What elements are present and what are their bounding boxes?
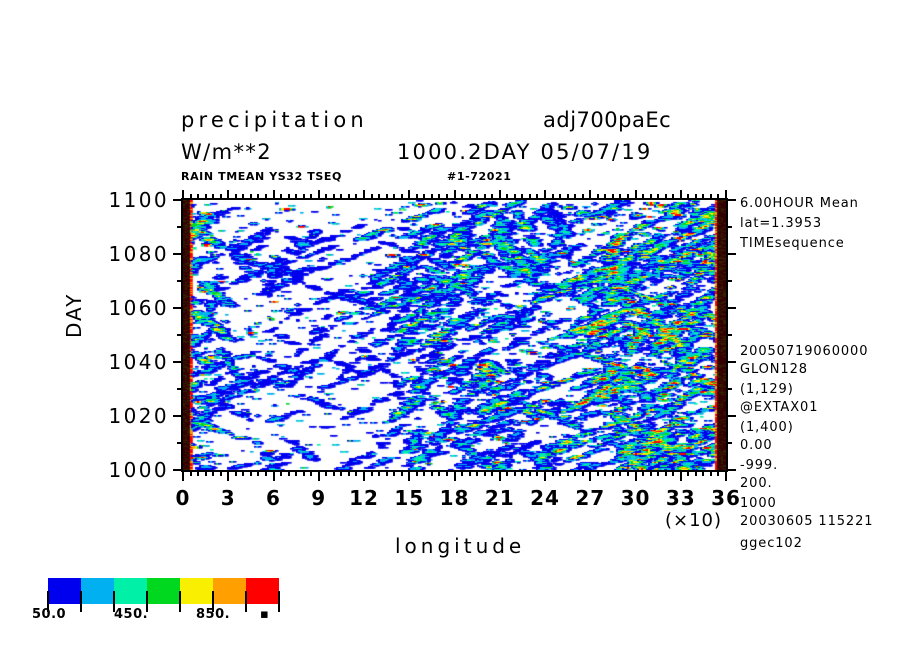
y-axis-title: DAY <box>62 293 86 338</box>
x-tick-major <box>454 470 456 481</box>
x-tick-minor <box>386 194 388 200</box>
x-tick-minor <box>205 470 207 476</box>
colorbar-label: ▪ <box>260 607 269 622</box>
hovmoller-plot-area: 110010801060104010201000 036912151821242… <box>181 198 728 472</box>
x-tick-minor <box>190 470 192 476</box>
x-axis-title: longitude <box>395 534 525 558</box>
y-axis-label: 1020 <box>109 404 170 428</box>
x-tick-minor <box>710 194 712 200</box>
x-tick-minor <box>212 194 214 200</box>
record-id: #1-72021 <box>447 170 512 183</box>
x-tick-minor <box>438 470 440 476</box>
x-tick-minor <box>295 470 297 476</box>
y-tick-major <box>173 253 183 255</box>
x-tick-minor <box>310 194 312 200</box>
x-tick-minor <box>235 470 237 476</box>
x-tick-minor <box>582 470 584 476</box>
x-tick-minor <box>536 194 538 200</box>
x-tick-minor <box>340 194 342 200</box>
x-tick-minor <box>371 470 373 476</box>
x-tick-minor <box>212 470 214 476</box>
y-tick-major <box>726 307 736 309</box>
x-tick-minor <box>461 194 463 200</box>
x-tick-minor <box>386 470 388 476</box>
x-tick-minor <box>220 470 222 476</box>
x-tick-minor <box>325 194 327 200</box>
x-tick-minor <box>672 470 674 476</box>
x-tick-major <box>635 470 637 481</box>
x-tick-minor <box>469 194 471 200</box>
y-tick-minor <box>177 280 183 282</box>
x-tick-minor <box>582 194 584 200</box>
x-tick-minor <box>325 470 327 476</box>
x-tick-minor <box>702 470 704 476</box>
title-units: W/m**2 <box>181 140 272 164</box>
annotation-sequence-type: TIMEsequence <box>740 236 845 251</box>
x-tick-major <box>635 190 637 200</box>
x-tick-major <box>182 190 184 200</box>
annotation-value-min: 0.00 <box>740 438 773 453</box>
colorbar-labels: 50.0450.850.▪ <box>32 607 292 625</box>
x-axis-label: 9 <box>311 486 326 510</box>
chart-title: precipitation adj700paEc <box>181 108 368 132</box>
x-tick-minor <box>567 194 569 200</box>
y-tick-minor <box>726 280 732 282</box>
x-tick-major <box>725 470 727 481</box>
x-tick-minor <box>627 194 629 200</box>
x-tick-minor <box>552 194 554 200</box>
x-tick-minor <box>642 470 644 476</box>
x-tick-minor <box>521 470 523 476</box>
x-tick-minor <box>197 194 199 200</box>
x-tick-minor <box>657 470 659 476</box>
x-tick-minor <box>604 470 606 476</box>
x-tick-minor <box>627 470 629 476</box>
x-tick-minor <box>303 470 305 476</box>
x-tick-major <box>408 190 410 200</box>
x-tick-minor <box>717 194 719 200</box>
x-tick-major <box>408 470 410 481</box>
annotation-mean-interval: 6.00HOUR Mean <box>740 196 859 211</box>
y-tick-major <box>726 415 736 417</box>
x-axis-multiplier-note: (×10) <box>665 510 722 531</box>
x-tick-minor <box>657 194 659 200</box>
colorbar-label: 450. <box>114 607 148 622</box>
x-tick-major <box>318 470 320 481</box>
x-tick-minor <box>650 470 652 476</box>
x-tick-major <box>363 470 365 481</box>
x-tick-minor <box>280 194 282 200</box>
x-tick-minor <box>695 470 697 476</box>
x-tick-minor <box>446 470 448 476</box>
x-tick-minor <box>401 194 403 200</box>
y-axis-label: 1080 <box>109 242 170 266</box>
y-tick-major <box>726 361 736 363</box>
x-axis-label: 18 <box>440 486 470 510</box>
x-tick-minor <box>484 194 486 200</box>
x-tick-major <box>499 190 501 200</box>
x-tick-major <box>499 470 501 481</box>
x-tick-minor <box>431 194 433 200</box>
x-tick-minor <box>672 194 674 200</box>
x-tick-minor <box>567 470 569 476</box>
x-axis-label: 33 <box>666 486 696 510</box>
x-tick-minor <box>491 194 493 200</box>
annotation-latitude: lat=1.3953 <box>740 216 822 231</box>
title-dataset: adj700paEc <box>543 108 671 132</box>
y-axis-label: 1000 <box>109 458 170 482</box>
annotation-missing-value: -999. <box>740 458 778 473</box>
x-tick-minor <box>514 470 516 476</box>
flags-text: RAIN TMEAN YS32 TSEQ <box>181 170 342 183</box>
x-tick-minor <box>303 194 305 200</box>
colorbar-label: 50.0 <box>32 607 66 622</box>
x-tick-minor <box>702 194 704 200</box>
x-tick-minor <box>310 470 312 476</box>
x-axis-label: 12 <box>349 486 379 510</box>
x-tick-major <box>318 190 320 200</box>
x-axis-label: 3 <box>221 486 236 510</box>
x-tick-minor <box>257 194 259 200</box>
x-tick-minor <box>250 194 252 200</box>
x-tick-minor <box>484 470 486 476</box>
x-tick-minor <box>280 470 282 476</box>
y-axis-label: 1100 <box>109 188 170 212</box>
y-tick-minor <box>177 442 183 444</box>
y-tick-minor <box>177 388 183 390</box>
x-tick-minor <box>604 194 606 200</box>
chart-subtitle: W/m**2 1000.2DAY 05/07/19 <box>181 140 272 164</box>
x-tick-minor <box>529 194 531 200</box>
x-tick-minor <box>250 470 252 476</box>
x-tick-minor <box>423 470 425 476</box>
x-tick-minor <box>536 470 538 476</box>
annotation-grid-x-name: GLON128 <box>740 362 808 377</box>
x-tick-minor <box>619 470 621 476</box>
x-tick-minor <box>687 470 689 476</box>
x-tick-minor <box>295 194 297 200</box>
x-tick-minor <box>506 194 508 200</box>
x-tick-minor <box>612 470 614 476</box>
x-tick-minor <box>333 470 335 476</box>
x-tick-minor <box>529 470 531 476</box>
x-axis-label: 21 <box>485 486 515 510</box>
x-axis-label: 36 <box>711 486 741 510</box>
x-tick-minor <box>710 470 712 476</box>
x-tick-minor <box>288 470 290 476</box>
y-tick-major <box>173 361 183 363</box>
x-tick-minor <box>506 470 508 476</box>
x-tick-major <box>680 190 682 200</box>
y-tick-major <box>173 415 183 417</box>
annotation-user: ggec102 <box>740 536 803 551</box>
x-tick-minor <box>521 194 523 200</box>
x-tick-minor <box>665 194 667 200</box>
x-axis-label: 0 <box>176 486 191 510</box>
precipitation-heatmap-canvas <box>183 200 726 470</box>
x-tick-minor <box>393 470 395 476</box>
title-level-time: 1000.2DAY 05/07/19 <box>397 140 652 164</box>
x-tick-minor <box>438 194 440 200</box>
x-tick-minor <box>446 194 448 200</box>
y-tick-major <box>726 469 736 471</box>
x-tick-major <box>182 470 184 481</box>
x-tick-minor <box>242 194 244 200</box>
x-tick-minor <box>461 470 463 476</box>
x-tick-minor <box>476 194 478 200</box>
x-axis-label: 24 <box>530 486 560 510</box>
chart-flags-line: RAIN TMEAN YS32 TSEQ #1-72021 <box>181 170 342 183</box>
x-tick-minor <box>333 194 335 200</box>
title-variable: precipitation <box>181 108 368 132</box>
x-tick-minor <box>378 470 380 476</box>
x-axis-label: 15 <box>394 486 424 510</box>
y-axis-label: 1060 <box>109 296 170 320</box>
x-tick-major <box>589 470 591 481</box>
x-tick-minor <box>348 194 350 200</box>
x-tick-minor <box>288 194 290 200</box>
annotation-grid-x-range: (1,129) <box>740 382 794 397</box>
y-tick-minor <box>177 334 183 336</box>
x-axis-label: 30 <box>621 486 651 510</box>
x-tick-minor <box>665 470 667 476</box>
x-tick-major <box>544 190 546 200</box>
x-tick-minor <box>220 194 222 200</box>
x-tick-minor <box>265 470 267 476</box>
x-tick-minor <box>190 194 192 200</box>
x-tick-minor <box>355 470 357 476</box>
x-tick-minor <box>423 194 425 200</box>
x-tick-major <box>273 190 275 200</box>
x-tick-minor <box>431 470 433 476</box>
x-tick-minor <box>559 194 561 200</box>
annotation-contour-interval: 200. <box>740 476 773 491</box>
x-tick-minor <box>476 470 478 476</box>
y-tick-minor <box>726 226 732 228</box>
annotation-timestamp: 20050719060000 <box>740 344 868 359</box>
x-tick-minor <box>416 194 418 200</box>
annotation-grid-t-range: (1,400) <box>740 420 794 435</box>
x-tick-minor <box>469 470 471 476</box>
x-tick-minor <box>257 470 259 476</box>
x-tick-major <box>363 190 365 200</box>
annotation-grid-t-name: @EXTAX01 <box>740 400 818 415</box>
x-tick-minor <box>378 194 380 200</box>
x-tick-minor <box>242 470 244 476</box>
x-axis-label: 6 <box>266 486 281 510</box>
x-tick-major <box>680 470 682 481</box>
x-tick-minor <box>650 194 652 200</box>
x-tick-minor <box>401 470 403 476</box>
x-tick-major <box>454 190 456 200</box>
y-axis-label: 1040 <box>109 350 170 374</box>
x-tick-minor <box>642 194 644 200</box>
annotation-contour-max: 1000 <box>740 496 777 511</box>
x-tick-minor <box>348 470 350 476</box>
x-tick-minor <box>574 470 576 476</box>
y-tick-major <box>726 199 736 201</box>
x-tick-minor <box>597 194 599 200</box>
x-tick-minor <box>265 194 267 200</box>
x-tick-minor <box>717 470 719 476</box>
x-tick-minor <box>197 470 199 476</box>
x-tick-minor <box>235 194 237 200</box>
x-tick-major <box>227 190 229 200</box>
x-tick-minor <box>574 194 576 200</box>
x-tick-minor <box>559 470 561 476</box>
x-tick-minor <box>393 194 395 200</box>
y-tick-major <box>173 307 183 309</box>
x-tick-minor <box>416 470 418 476</box>
x-tick-minor <box>695 194 697 200</box>
x-tick-minor <box>687 194 689 200</box>
y-tick-minor <box>177 226 183 228</box>
x-tick-minor <box>514 194 516 200</box>
annotation-created: 20030605 115221 <box>740 514 873 529</box>
x-tick-major <box>544 470 546 481</box>
x-tick-major <box>589 190 591 200</box>
x-tick-minor <box>552 470 554 476</box>
x-tick-major <box>227 470 229 481</box>
x-tick-minor <box>619 194 621 200</box>
x-tick-minor <box>612 194 614 200</box>
x-tick-minor <box>340 470 342 476</box>
x-tick-major <box>273 470 275 481</box>
y-tick-minor <box>726 334 732 336</box>
y-tick-minor <box>726 388 732 390</box>
x-axis-label: 27 <box>575 486 605 510</box>
y-tick-major <box>726 253 736 255</box>
x-tick-minor <box>355 194 357 200</box>
x-tick-minor <box>491 470 493 476</box>
x-tick-major <box>725 190 727 200</box>
x-tick-minor <box>371 194 373 200</box>
x-tick-minor <box>597 470 599 476</box>
colorbar-label: 850. <box>196 607 230 622</box>
x-tick-minor <box>205 194 207 200</box>
y-tick-minor <box>726 442 732 444</box>
